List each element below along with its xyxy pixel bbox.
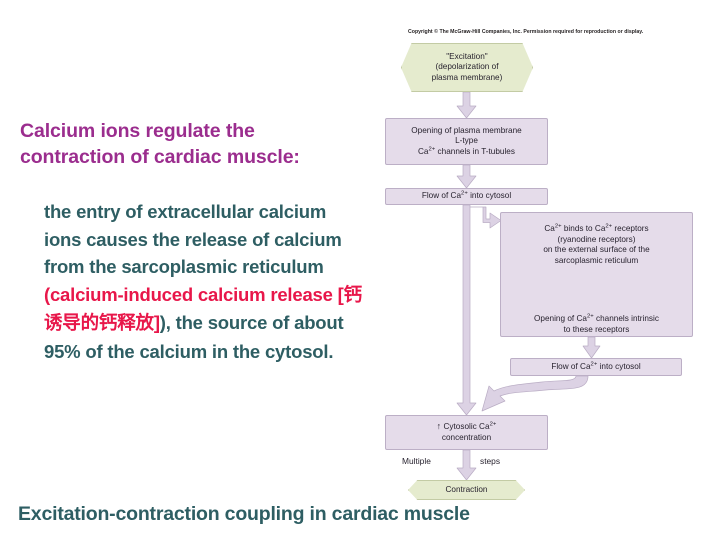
ryanodine-lower-text: Opening of Ca2+ channels intrinsic to th…	[501, 314, 692, 335]
node-cytosolic-concentration[interactable]: ↑ Cytosolic Ca2+concentration	[385, 415, 548, 450]
highlight-term-english: calcium-induced calcium release	[50, 284, 338, 305]
node-excitation[interactable]: "Excitation"(depolarization ofplasma mem…	[401, 43, 533, 92]
node-ltype-channels[interactable]: Opening of plasma membraneL-typeCa2+ cha…	[385, 118, 548, 165]
node-flow-into-cytosol-left[interactable]: Flow of Ca2+ into cytosol	[385, 188, 548, 205]
arrow-ryanodine-to-flow-right	[583, 337, 600, 358]
node-ltype-channels-label: Opening of plasma membraneL-typeCa2+ cha…	[411, 126, 521, 158]
node-flow-into-cytosol-right-label: Flow of Ca2+ into cytosol	[551, 362, 640, 373]
arrow-branch-to-ryanodine	[470, 207, 501, 228]
ryanodine-upper-text: Ca2+ binds to Ca2+ receptors (ryanodine …	[501, 224, 692, 266]
edge-label-multiple: Multiple	[402, 456, 431, 467]
arrow-ltype-to-flow-left	[457, 165, 476, 188]
node-ryanodine-receptors-label: Ca2+ binds to Ca2+ receptors (ryanodine …	[501, 224, 692, 336]
edge-label-steps: steps	[480, 456, 500, 467]
arrow-flow-left-to-cytosolic	[457, 205, 476, 415]
flowchart-figure: Copyright © The McGraw-Hill Companies, I…	[360, 0, 720, 541]
arrow-cytosolic-to-contraction	[457, 450, 476, 480]
arrow-excitation-to-ltype	[457, 92, 476, 118]
up-arrow-icon: ↑	[437, 421, 442, 431]
arrow-flow-right-curve-to-cytosolic	[482, 376, 588, 411]
node-flow-into-cytosol-left-label: Flow of Ca2+ into cytosol	[422, 191, 511, 202]
node-cytosolic-concentration-label: ↑ Cytosolic Ca2+concentration	[437, 421, 497, 443]
node-excitation-label: "Excitation"(depolarization ofplasma mem…	[432, 52, 503, 84]
page-title: Calcium ions regulate the contraction of…	[20, 118, 350, 170]
body-lead-text: the entry of extracellular calcium ions …	[44, 201, 342, 277]
node-ryanodine-receptors[interactable]: Ca2+ binds to Ca2+ receptors (ryanodine …	[500, 212, 693, 337]
node-flow-into-cytosol-right[interactable]: Flow of Ca2+ into cytosol	[510, 358, 682, 376]
node-contraction[interactable]: Contraction	[408, 480, 525, 500]
node-contraction-label: Contraction	[446, 485, 488, 496]
body-paragraph: the entry of extracellular calcium ions …	[44, 198, 364, 365]
